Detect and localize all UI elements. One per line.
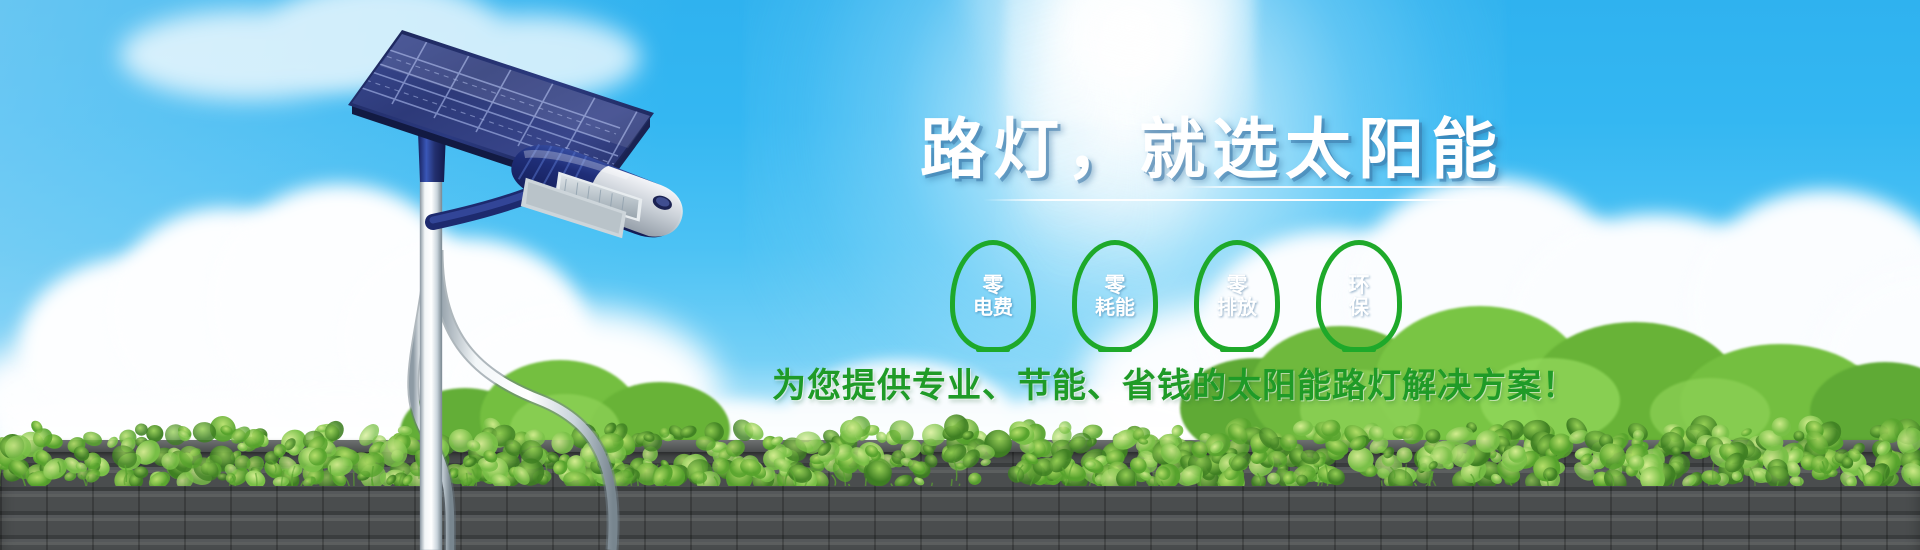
badge-prefix: 环 (1349, 275, 1370, 297)
badge-eco-friendly: 环 保 (1316, 240, 1402, 352)
badge-label: 零 排放 (1217, 275, 1257, 318)
badge-zero-electricity-cost: 零 电费 (950, 240, 1036, 352)
badge-label: 环 保 (1349, 275, 1370, 318)
badge-word: 耗能 (1095, 295, 1135, 319)
badge-label: 零 电费 (973, 275, 1013, 318)
badge-word: 电费 (973, 295, 1013, 319)
solar-street-light-banner: 路灯，就选太阳能 零 电费 零 耗能 零 (0, 0, 1920, 550)
badge-word: 保 (1349, 295, 1369, 319)
banner-subtitle: 为您提供专业、节能、省钱的太阳能路灯解决方案！ (772, 358, 1577, 407)
badge-word: 排放 (1217, 295, 1257, 319)
banner-headline: 路灯，就选太阳能 (920, 96, 1504, 192)
badge-zero-emission: 零 排放 (1194, 240, 1280, 352)
badge-prefix: 零 (1095, 275, 1135, 297)
badge-zero-energy-use: 零 耗能 (1072, 240, 1158, 352)
badge-prefix: 零 (973, 275, 1013, 297)
badge-prefix: 零 (1217, 275, 1257, 297)
feature-badge-list: 零 电费 零 耗能 零 排放 (950, 240, 1402, 352)
badge-label: 零 耗能 (1095, 275, 1135, 318)
banner-copy: 路灯，就选太阳能 零 电费 零 耗能 零 (0, 0, 1920, 550)
headline-divider-secondary (1185, 186, 1515, 188)
headline-divider (983, 199, 1483, 201)
